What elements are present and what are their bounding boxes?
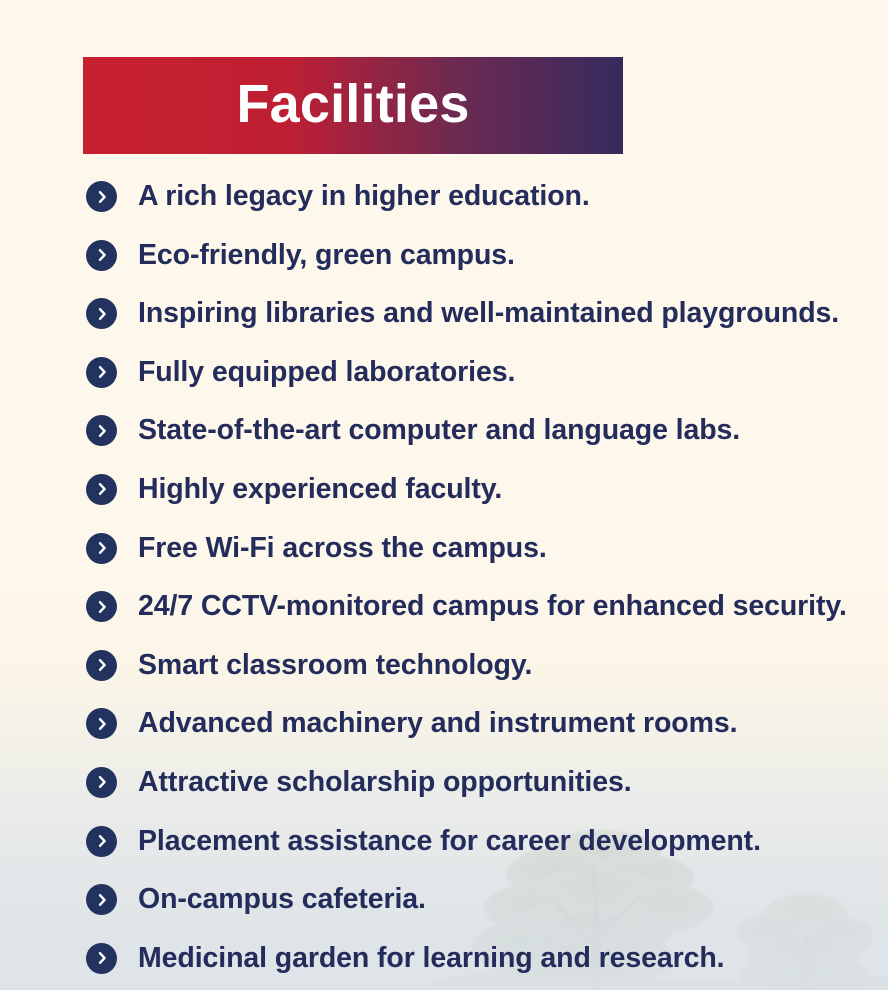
- list-item: Placement assistance for career developm…: [86, 826, 888, 857]
- list-item: Fully equipped laboratories.: [86, 357, 888, 388]
- list-item: State-of-the-art computer and language l…: [86, 415, 888, 446]
- chevron-right-icon: [86, 533, 117, 564]
- facilities-page: Facilities A rich legacy in higher educa…: [0, 0, 888, 990]
- chevron-right-icon: [86, 767, 117, 798]
- list-item-label: 24/7 CCTV-monitored campus for enhanced …: [138, 591, 847, 622]
- chevron-right-icon: [86, 943, 117, 974]
- list-item-label: Placement assistance for career developm…: [138, 826, 761, 857]
- list-item: Advanced machinery and instrument rooms.: [86, 708, 888, 739]
- list-item: Free Wi-Fi across the campus.: [86, 533, 888, 564]
- list-item-label: Medicinal garden for learning and resear…: [138, 943, 724, 974]
- list-item-label: Advanced machinery and instrument rooms.: [138, 708, 737, 739]
- list-item-label: Attractive scholarship opportunities.: [138, 767, 632, 798]
- page-title: Facilities: [236, 77, 469, 135]
- list-item: On-campus cafeteria.: [86, 884, 888, 915]
- list-item-label: A rich legacy in higher education.: [138, 181, 590, 212]
- list-item-label: Free Wi-Fi across the campus.: [138, 533, 547, 564]
- list-item: Smart classroom technology.: [86, 650, 888, 681]
- chevron-right-icon: [86, 474, 117, 505]
- list-item: 24/7 CCTV-monitored campus for enhanced …: [86, 591, 888, 622]
- list-item-label: Smart classroom technology.: [138, 650, 532, 681]
- list-item: Highly experienced faculty.: [86, 474, 888, 505]
- list-item-label: Highly experienced faculty.: [138, 474, 502, 505]
- chevron-right-icon: [86, 415, 117, 446]
- list-item-label: State-of-the-art computer and language l…: [138, 415, 740, 446]
- list-item: Attractive scholarship opportunities.: [86, 767, 888, 798]
- facilities-list: A rich legacy in higher education. Eco-f…: [86, 181, 888, 990]
- chevron-right-icon: [86, 591, 117, 622]
- list-item: Eco-friendly, green campus.: [86, 240, 888, 271]
- list-item-label: Fully equipped laboratories.: [138, 357, 515, 388]
- chevron-right-icon: [86, 884, 117, 915]
- chevron-right-icon: [86, 240, 117, 271]
- chevron-right-icon: [86, 650, 117, 681]
- list-item-label: Eco-friendly, green campus.: [138, 240, 515, 271]
- list-item: Medicinal garden for learning and resear…: [86, 943, 888, 974]
- chevron-right-icon: [86, 826, 117, 857]
- chevron-right-icon: [86, 708, 117, 739]
- chevron-right-icon: [86, 181, 117, 212]
- chevron-right-icon: [86, 357, 117, 388]
- chevron-right-icon: [86, 298, 117, 329]
- facilities-banner: Facilities: [83, 57, 623, 154]
- list-item-label: Inspiring libraries and well-maintained …: [138, 298, 839, 329]
- list-item: Inspiring libraries and well-maintained …: [86, 298, 888, 329]
- list-item-label: On-campus cafeteria.: [138, 884, 426, 915]
- list-item: A rich legacy in higher education.: [86, 181, 888, 212]
